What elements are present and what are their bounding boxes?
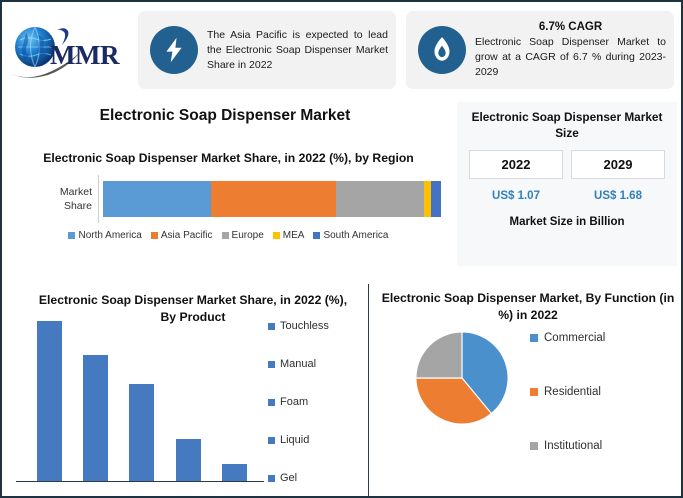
function-share-chart: Electronic Soap Dispenser Market, By Fun… — [372, 288, 681, 496]
market-size-year-2022: 2022 — [469, 150, 563, 179]
header: MMR The Asia Pacific is expected to lead… — [2, 2, 681, 95]
page-title: Electronic Soap Dispenser Market — [10, 107, 440, 125]
product-axis-baseline — [16, 481, 264, 482]
region-legend-item: MEA — [273, 230, 305, 241]
region-legend-item: North America — [68, 230, 141, 241]
legend-swatch-icon — [222, 232, 229, 239]
legend-swatch-icon — [268, 361, 275, 368]
product-bar-manual — [83, 355, 108, 481]
legend-swatch-icon — [268, 437, 275, 444]
market-size-years: 2022 2029 — [463, 150, 671, 179]
pie-slice-institutional — [416, 332, 462, 378]
header-card-region: The Asia Pacific is expected to lead the… — [138, 11, 396, 89]
function-legend-label: Residential — [544, 386, 601, 398]
region-legend-item: Europe — [222, 230, 264, 241]
section-divider — [368, 284, 369, 496]
region-legend-label: MEA — [283, 230, 305, 241]
header-card-cagr-text: Electronic Soap Dispenser Market to grow… — [475, 35, 666, 80]
product-legend-label: Touchless — [280, 320, 329, 332]
legend-swatch-icon — [313, 232, 320, 239]
function-legend-label: Commercial — [544, 332, 605, 344]
region-legend-item: Asia Pacific — [151, 230, 213, 241]
lightning-bolt-icon — [150, 26, 198, 74]
product-legend-item: Touchless — [268, 320, 368, 332]
function-legend: CommercialResidentialInstitutional — [530, 332, 678, 452]
product-legend-item: Liquid — [268, 434, 368, 446]
flame-icon — [418, 26, 466, 74]
product-legend-item: Foam — [268, 396, 368, 408]
product-legend-label: Liquid — [280, 434, 309, 446]
header-card-region-text: The Asia Pacific is expected to lead the… — [207, 28, 388, 73]
region-axis-label-line2: Share — [64, 199, 92, 213]
region-legend-item: South America — [313, 230, 388, 241]
region-legend-label: South America — [323, 230, 388, 241]
market-size-footer: Market Size in Billion — [463, 216, 671, 228]
region-segment-europe — [336, 181, 424, 217]
product-bar-touchless — [37, 321, 62, 481]
product-legend-item: Manual — [268, 358, 368, 370]
product-legend-label: Gel — [280, 472, 297, 484]
legend-swatch-icon — [268, 323, 275, 330]
product-legend-item: Gel — [268, 472, 368, 484]
brand-name: MMR — [50, 42, 119, 69]
region-segment-asia-pacific — [211, 181, 336, 217]
function-chart-title: Electronic Soap Dispenser Market, By Fun… — [378, 290, 678, 324]
region-chart-title: Electronic Soap Dispenser Market Share, … — [16, 150, 441, 167]
region-share-chart: Electronic Soap Dispenser Market Share, … — [16, 150, 441, 270]
header-card-cagr: 6.7% CAGR Electronic Soap Dispenser Mark… — [406, 11, 674, 89]
function-legend-label: Institutional — [544, 440, 602, 452]
region-legend-label: Asia Pacific — [161, 230, 213, 241]
legend-swatch-icon — [530, 334, 538, 342]
product-share-chart: Electronic Soap Dispenser Market Share, … — [10, 288, 368, 496]
product-legend-label: Manual — [280, 358, 316, 370]
region-segment-south-america — [431, 181, 441, 217]
legend-swatch-icon — [151, 232, 158, 239]
product-bars — [26, 313, 258, 481]
product-bar-liquid — [176, 439, 201, 481]
market-size-values: US$ 1.07 US$ 1.68 — [463, 190, 671, 202]
brand-logo: MMR — [2, 2, 130, 95]
legend-swatch-icon — [530, 388, 538, 396]
market-size-title: Electronic Soap Dispenser Market Size — [463, 107, 671, 141]
header-card-cagr-heading: 6.7% CAGR — [475, 20, 666, 35]
legend-swatch-icon — [68, 232, 75, 239]
product-bar-gel — [222, 464, 247, 481]
region-stacked-bar — [103, 181, 441, 217]
infographic-page: MMR The Asia Pacific is expected to lead… — [0, 0, 683, 498]
region-axis-label-line1: Market — [60, 185, 92, 199]
region-legend: North AmericaAsia PacificEuropeMEASouth … — [16, 230, 441, 241]
market-size-value-2029: US$ 1.68 — [571, 190, 665, 202]
region-axis-label: Market Share — [16, 175, 98, 223]
product-bar-foam — [129, 384, 154, 481]
region-segment-north-america — [103, 181, 211, 217]
market-size-year-2029: 2029 — [571, 150, 665, 179]
legend-swatch-icon — [530, 442, 538, 450]
legend-swatch-icon — [268, 399, 275, 406]
product-legend-label: Foam — [280, 396, 308, 408]
region-segment-mea — [424, 181, 431, 217]
region-legend-label: Europe — [232, 230, 264, 241]
product-legend: TouchlessManualFoamLiquidGel — [268, 320, 368, 484]
region-legend-label: North America — [78, 230, 141, 241]
market-size-panel: Electronic Soap Dispenser Market Size 20… — [457, 102, 677, 266]
legend-swatch-icon — [268, 475, 275, 482]
function-legend-item: Institutional — [530, 440, 678, 452]
pie-svg — [414, 330, 510, 426]
function-pie — [414, 330, 510, 426]
market-size-value-2022: US$ 1.07 — [469, 190, 563, 202]
function-legend-item: Residential — [530, 386, 678, 398]
legend-swatch-icon — [273, 232, 280, 239]
function-legend-item: Commercial — [530, 332, 678, 344]
